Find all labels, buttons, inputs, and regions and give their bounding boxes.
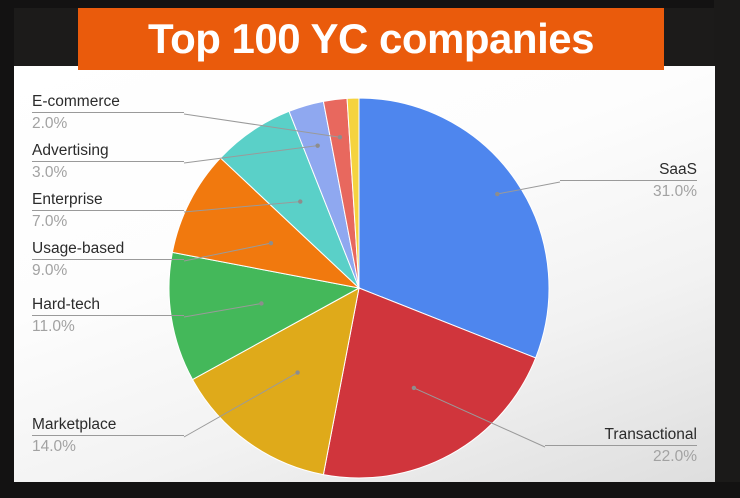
leader-dot-enterprise bbox=[298, 199, 302, 203]
callout-transactional[interactable]: Transactional 22.0% bbox=[545, 425, 697, 466]
callout-value: 2.0% bbox=[32, 114, 184, 133]
callout-label: Hard-tech bbox=[32, 295, 184, 314]
callout-usage-based[interactable]: Usage-based 9.0% bbox=[32, 239, 184, 280]
callout-value: 7.0% bbox=[32, 212, 184, 231]
callout-hard-tech[interactable]: Hard-tech 11.0% bbox=[32, 295, 184, 336]
callout-label: Usage-based bbox=[32, 239, 184, 258]
callout-marketplace[interactable]: Marketplace 14.0% bbox=[32, 415, 184, 456]
callout-rule bbox=[545, 445, 697, 446]
callout-e-commerce[interactable]: E-commerce 2.0% bbox=[32, 92, 184, 133]
callout-value: 14.0% bbox=[32, 437, 184, 456]
video-frame-top bbox=[0, 0, 740, 8]
callout-rule bbox=[32, 259, 184, 260]
page-title: Top 100 YC companies bbox=[148, 18, 594, 60]
video-frame-bottom bbox=[0, 482, 740, 498]
leader-dot-usage-based bbox=[269, 241, 273, 245]
callout-saas[interactable]: SaaS 31.0% bbox=[560, 160, 697, 201]
callout-value: 3.0% bbox=[32, 163, 184, 182]
callout-value: 11.0% bbox=[32, 317, 184, 336]
leader-dot-transactional bbox=[412, 386, 416, 390]
title-banner: Top 100 YC companies bbox=[78, 8, 664, 70]
leader-dot-marketplace bbox=[295, 370, 299, 374]
leader-dot-e-commerce bbox=[338, 135, 342, 139]
callout-label: Enterprise bbox=[32, 190, 184, 209]
callout-rule bbox=[32, 161, 184, 162]
callout-label: SaaS bbox=[560, 160, 697, 179]
video-frame-right bbox=[714, 0, 740, 498]
callout-rule bbox=[32, 435, 184, 436]
callout-rule bbox=[32, 315, 184, 316]
callout-value: 22.0% bbox=[545, 447, 697, 466]
callout-advertising[interactable]: Advertising 3.0% bbox=[32, 141, 184, 182]
callout-label: Transactional bbox=[545, 425, 697, 444]
callout-rule bbox=[560, 180, 697, 181]
video-frame-left bbox=[0, 0, 14, 498]
callout-label: Marketplace bbox=[32, 415, 184, 434]
screenshot-root: Top 100 YC companies E-commerce 2.0% Adv… bbox=[0, 0, 740, 498]
callout-label: E-commerce bbox=[32, 92, 184, 111]
leader-dot-saas bbox=[495, 192, 499, 196]
callout-value: 9.0% bbox=[32, 261, 184, 280]
callout-rule bbox=[32, 112, 184, 113]
leader-dot-advertising bbox=[315, 143, 319, 147]
callout-label: Advertising bbox=[32, 141, 184, 160]
callout-value: 31.0% bbox=[560, 182, 697, 201]
callout-rule bbox=[32, 210, 184, 211]
leader-dot-hard-tech bbox=[259, 301, 263, 305]
callout-enterprise[interactable]: Enterprise 7.0% bbox=[32, 190, 184, 231]
